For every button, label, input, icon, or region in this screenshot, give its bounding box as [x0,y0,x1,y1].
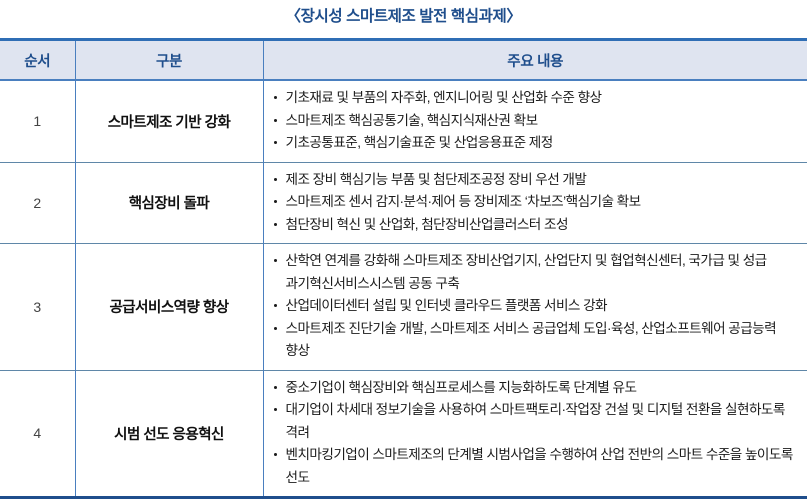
list-item-text: 스마트제조 센서 감지·분석·제어 등 장비제조 ‘차보즈’핵심기술 확보 [286,194,641,209]
document-page: 〈장시성 스마트제조 발전 핵심과제〉 순서 구분 주요 내용 1 스마트제조 … [0,0,807,462]
list-item: 산학연 연계를 강화해 스마트제조 장비산업기지, 산업단지 및 협업혁신센터,… [273,250,800,295]
row-order-number: 3 [0,244,75,371]
row-content-cell: 중소기업이 핵심장비와 핵심프로세스를 지능화하도록 단계별 유도 대기업이 차… [263,370,807,498]
bullet-dot-icon [274,141,277,144]
row-category-label: 공급서비스역량 향상 [75,244,263,371]
list-item: 제조 장비 핵심기능 부품 및 첨단제조공정 장비 우선 개발 [273,169,800,192]
row-category-label: 시범 선도 응용혁신 [75,370,263,498]
bullet-dot-icon [274,96,277,99]
core-tasks-table: 순서 구분 주요 내용 1 스마트제조 기반 강화 기초재료 및 부품의 자주화… [0,38,807,499]
bullet-dot-icon [274,200,277,203]
bullet-dot-icon [274,386,277,389]
list-item-text: 산학연 연계를 강화해 스마트제조 장비산업기지, 산업단지 및 협업혁신센터,… [286,253,767,291]
list-item-text: 기초공통표준, 핵심기술표준 및 산업응용표준 제정 [286,135,553,150]
table-header: 순서 구분 주요 내용 [0,40,807,81]
bullet-dot-icon [274,327,277,330]
list-item-text: 중소기업이 핵심장비와 핵심프로세스를 지능화하도록 단계별 유도 [286,380,637,395]
column-header-content: 주요 내용 [263,40,807,81]
table-row: 1 스마트제조 기반 강화 기초재료 및 부품의 자주화, 엔지니어링 및 산업… [0,80,807,162]
list-item: 스마트제조 센서 감지·분석·제어 등 장비제조 ‘차보즈’핵심기술 확보 [273,191,800,214]
bullet-dot-icon [274,453,277,456]
list-item-text: 산업데이터센터 설립 및 인터넷 클라우드 플랫폼 서비스 강화 [286,298,608,313]
list-item-text: 벤치마킹기업이 스마트제조의 단계별 시범사업을 수행하여 산업 전반의 스마트… [286,447,793,485]
table-header-row: 순서 구분 주요 내용 [0,40,807,81]
bullet-dot-icon [274,223,277,226]
bullet-dot-icon [274,259,277,262]
row-order-number: 4 [0,370,75,498]
row-order-number: 1 [0,80,75,162]
column-header-order: 순서 [0,40,75,81]
row-category-label: 스마트제조 기반 강화 [75,80,263,162]
bullet-list: 중소기업이 핵심장비와 핵심프로세스를 지능화하도록 단계별 유도 대기업이 차… [273,377,800,490]
bullet-dot-icon [274,119,277,122]
bullet-dot-icon [274,408,277,411]
list-item-text: 첨단장비 혁신 및 산업화, 첨단장비산업클러스터 조성 [286,217,568,232]
list-item: 벤치마킹기업이 스마트제조의 단계별 시범사업을 수행하여 산업 전반의 스마트… [273,444,800,489]
table-row: 4 시범 선도 응용혁신 중소기업이 핵심장비와 핵심프로세스를 지능화하도록 … [0,370,807,498]
list-item: 산업데이터센터 설립 및 인터넷 클라우드 플랫폼 서비스 강화 [273,295,800,318]
list-item-text: 제조 장비 핵심기능 부품 및 첨단제조공정 장비 우선 개발 [286,172,587,187]
list-item: 스마트제조 핵심공통기술, 핵심지식재산권 확보 [273,110,800,133]
list-item: 스마트제조 진단기술 개발, 스마트제조 서비스 공급업체 도입·육성, 산업소… [273,318,800,363]
table-row: 2 핵심장비 돌파 제조 장비 핵심기능 부품 및 첨단제조공정 장비 우선 개… [0,162,807,244]
row-content-cell: 산학연 연계를 강화해 스마트제조 장비산업기지, 산업단지 및 협업혁신센터,… [263,244,807,371]
row-content-cell: 제조 장비 핵심기능 부품 및 첨단제조공정 장비 우선 개발 스마트제조 센서… [263,162,807,244]
row-category-label: 핵심장비 돌파 [75,162,263,244]
bullet-dot-icon [274,178,277,181]
list-item: 대기업이 차세대 정보기술을 사용하여 스마트팩토리·작업장 건설 및 디지털 … [273,399,800,444]
list-item: 기초공통표준, 핵심기술표준 및 산업응용표준 제정 [273,132,800,155]
table-body: 1 스마트제조 기반 강화 기초재료 및 부품의 자주화, 엔지니어링 및 산업… [0,80,807,498]
bullet-list: 산학연 연계를 강화해 스마트제조 장비산업기지, 산업단지 및 협업혁신센터,… [273,250,800,363]
list-item: 중소기업이 핵심장비와 핵심프로세스를 지능화하도록 단계별 유도 [273,377,800,400]
list-item: 기초재료 및 부품의 자주화, 엔지니어링 및 산업화 수준 향상 [273,87,800,110]
table-row: 3 공급서비스역량 향상 산학연 연계를 강화해 스마트제조 장비산업기지, 산… [0,244,807,371]
list-item: 첨단장비 혁신 및 산업화, 첨단장비산업클러스터 조성 [273,214,800,237]
bullet-list: 기초재료 및 부품의 자주화, 엔지니어링 및 산업화 수준 향상 스마트제조 … [273,87,800,155]
list-item-text: 기초재료 및 부품의 자주화, 엔지니어링 및 산업화 수준 향상 [286,90,602,105]
column-header-category: 구분 [75,40,263,81]
page-title: 〈장시성 스마트제조 발전 핵심과제〉 [0,0,807,38]
row-content-cell: 기초재료 및 부품의 자주화, 엔지니어링 및 산업화 수준 향상 스마트제조 … [263,80,807,162]
list-item-text: 대기업이 차세대 정보기술을 사용하여 스마트팩토리·작업장 건설 및 디지털 … [286,402,785,440]
bullet-dot-icon [274,304,277,307]
list-item-text: 스마트제조 핵심공통기술, 핵심지식재산권 확보 [286,113,538,128]
list-item-text: 스마트제조 진단기술 개발, 스마트제조 서비스 공급업체 도입·육성, 산업소… [286,321,777,359]
row-order-number: 2 [0,162,75,244]
bullet-list: 제조 장비 핵심기능 부품 및 첨단제조공정 장비 우선 개발 스마트제조 센서… [273,169,800,237]
